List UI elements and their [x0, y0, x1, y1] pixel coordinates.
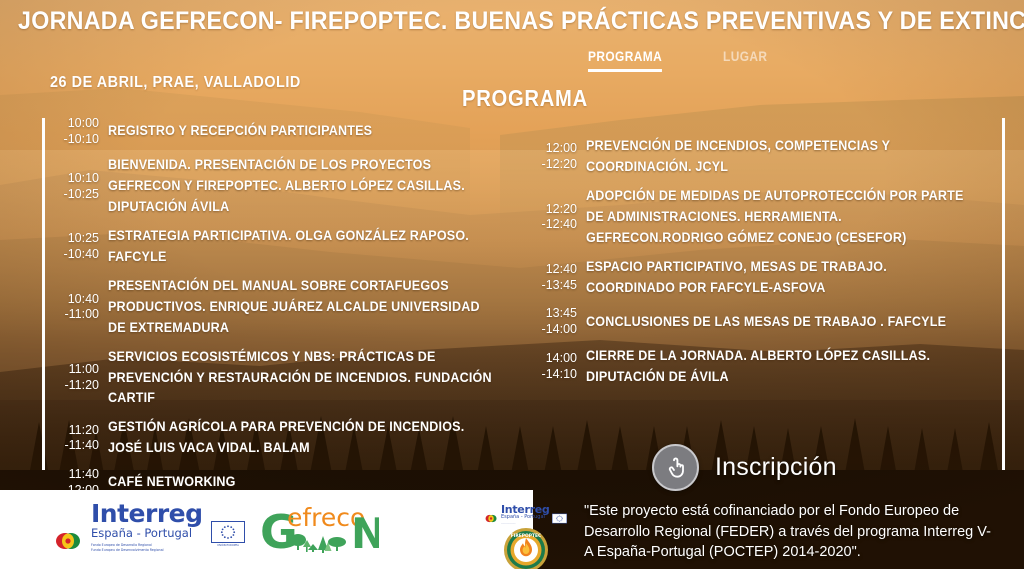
- logo-row: Interreg España - Portugal Fondo Europeo…: [55, 500, 379, 554]
- agenda-description: REGISTRO Y RECEPCIÓN PARTICIPANTES: [108, 121, 500, 142]
- agenda-time: 12:20 -12:40: [528, 202, 586, 233]
- agenda-row: 12:40 -13:45 ESPACIO PARTICIPATIVO, MESA…: [528, 257, 1000, 299]
- agenda-time: 14:00 -14:10: [528, 351, 586, 382]
- agenda-time: 10:40 -11:00: [52, 292, 108, 323]
- gefrecon-trees-icon: [290, 534, 346, 553]
- agenda-description: SERVICIOS ECOSISTÉMICOS Y NBS: PRÁCTICAS…: [108, 347, 500, 410]
- mini-interreg-fineprint: ____________: [501, 522, 549, 524]
- agenda-row: 10:25 -10:40 ESTRATEGIA PARTICIPATIVA. O…: [52, 226, 530, 268]
- interreg-flags-icon: [55, 529, 83, 553]
- agenda-time: 11:20 -11:40: [52, 423, 108, 454]
- gefrecon-letter-n: N: [351, 509, 379, 556]
- agenda-row: 11:20 -11:40 GESTIÓN AGRÍCOLA PARA PREVE…: [52, 417, 530, 459]
- interreg-word: Interreg: [91, 501, 203, 526]
- eu-flag-icon: UNIÓN EUROPEA: [211, 521, 245, 549]
- mini-interreg-logo: Interreg España - Portugal ____________: [485, 504, 567, 524]
- footer-logo-panel: Interreg España - Portugal Fondo Europeo…: [0, 490, 533, 569]
- agenda-description: ADOPCIÓN DE MEDIDAS DE AUTOPROTECCIÓN PO…: [586, 186, 971, 249]
- firepoptec-logo-group: Interreg España - Portugal ____________: [485, 504, 567, 569]
- agenda-description: ESTRATEGIA PARTICIPATIVA. OLGA GONZÁLEZ …: [108, 226, 500, 268]
- mini-interreg-subtitle: España - Portugal: [501, 515, 549, 520]
- firepoptec-flame-logo-icon: FIREPOPTEC: [503, 527, 549, 569]
- poster-canvas: JORNADA GEFRECON- FIREPOPTEC. BUENAS PRÁ…: [0, 0, 1024, 569]
- agenda-time: 12:40 -13:45: [528, 262, 586, 293]
- agenda-time: 13:45 -14:00: [528, 306, 586, 337]
- tab-lugar[interactable]: LUGAR: [723, 48, 767, 69]
- page-title: JORNADA GEFRECON- FIREPOPTEC. BUENAS PRÁ…: [18, 8, 948, 34]
- gefrecon-logo: G efreco N: [259, 500, 379, 554]
- agenda-description: BIENVENIDA. PRESENTACIÓN DE LOS PROYECTO…: [108, 155, 500, 218]
- left-divider-rule: [42, 118, 45, 470]
- agenda-column-right: 12:00 -12:20 PREVENCIÓN DE INCENDIOS, CO…: [528, 136, 1000, 396]
- interreg-subtitle: España - Portugal: [91, 528, 203, 540]
- inscripcion-label: Inscripción: [715, 453, 837, 482]
- agenda-row: 10:00 -10:10 REGISTRO Y RECEPCIÓN PARTIC…: [52, 116, 530, 147]
- interreg-fineprint: Fondo Europeo de Desarrollo Regional Fun…: [91, 543, 203, 553]
- event-date-location: 26 DE ABRIL, PRAE, VALLADOLID: [50, 74, 301, 92]
- inscripcion-button[interactable]: Inscripción: [652, 444, 837, 491]
- agenda-row: 11:00 -11:20 SERVICIOS ECOSISTÉMICOS Y N…: [52, 347, 530, 410]
- right-divider-rule: [1002, 118, 1005, 470]
- agenda-column-left: 10:00 -10:10 REGISTRO Y RECEPCIÓN PARTIC…: [52, 116, 530, 506]
- agenda-description: ESPACIO PARTICIPATIVO, MESAS DE TRABAJO.…: [586, 257, 971, 299]
- section-heading-programa: PROGRAMA: [462, 85, 588, 112]
- interreg-logo: Interreg España - Portugal Fondo Europeo…: [55, 501, 245, 552]
- agenda-description: CIERRE DE LA JORNADA. ALBERTO LÓPEZ CASI…: [586, 346, 971, 388]
- agenda-time: 10:10 -10:25: [52, 171, 108, 202]
- nav-tabs: PROGRAMA LUGAR: [588, 48, 776, 72]
- agenda-row: 12:20 -12:40 ADOPCIÓN DE MEDIDAS DE AUTO…: [528, 186, 1000, 249]
- agenda-time: 11:00 -11:20: [52, 362, 108, 393]
- svg-text:FIREPOPTEC: FIREPOPTEC: [511, 533, 541, 539]
- agenda-description: PRESENTACIÓN DEL MANUAL SOBRE CORTAFUEGO…: [108, 276, 500, 339]
- agenda-row: 13:45 -14:00 CONCLUSIONES DE LAS MESAS D…: [528, 306, 1000, 337]
- interreg-wordmark: Interreg España - Portugal Fondo Europeo…: [91, 501, 203, 552]
- agenda-row: 14:00 -14:10 CIERRE DE LA JORNADA. ALBER…: [528, 346, 1000, 388]
- agenda-description: PREVENCIÓN DE INCENDIOS, COMPETENCIAS Y …: [586, 136, 971, 178]
- agenda-description: GESTIÓN AGRÍCOLA PARA PREVENCIÓN DE INCE…: [108, 417, 500, 459]
- agenda-time: 10:25 -10:40: [52, 231, 108, 262]
- tab-programa[interactable]: PROGRAMA: [588, 48, 662, 72]
- agenda-time: 12:00 -12:20: [528, 141, 586, 172]
- click-hand-icon: [652, 444, 699, 491]
- agenda-description: CONCLUSIONES DE LAS MESAS DE TRABAJO . F…: [586, 312, 971, 333]
- agenda-row: 12:00 -12:20 PREVENCIÓN DE INCENDIOS, CO…: [528, 136, 1000, 178]
- agenda-time: 10:00 -10:10: [52, 116, 108, 147]
- agenda-row: 10:10 -10:25 BIENVENIDA. PRESENTACIÓN DE…: [52, 155, 530, 218]
- agenda-row: 10:40 -11:00 PRESENTACIÓN DEL MANUAL SOB…: [52, 276, 530, 339]
- funding-disclaimer: "Este proyecto está cofinanciado por el …: [584, 501, 996, 563]
